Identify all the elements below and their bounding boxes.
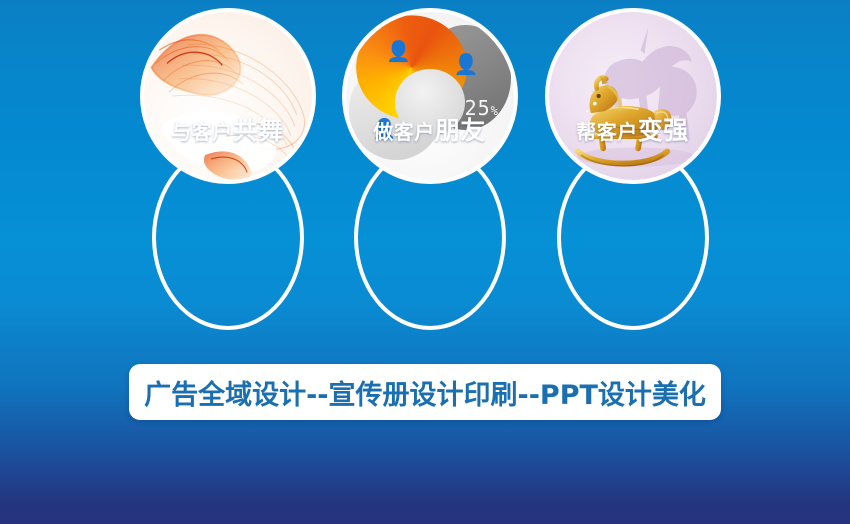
feature-item-dance-with-client[interactable]: 与客户共舞 [120,0,335,340]
orange-smoke-ribbons-icon [144,12,312,180]
person-presenter-icon: 👤 [386,41,411,61]
feature-label-light: 与客户 [171,120,233,144]
feature-label-bold: 朋友 [435,116,486,145]
feature-image-disc [140,8,316,184]
feature-image-disc: 👤 👤 👤 25% [342,8,518,184]
feature-label: 做客户朋友 [322,118,537,143]
golden-rocking-horse-icon [549,12,717,180]
feature-item-friend-of-client[interactable]: 👤 👤 👤 25% 做客户朋友 [322,0,537,340]
service-banner-text: 广告全域设计--宣传册设计印刷--PPT设计美化 [144,373,706,412]
service-banner[interactable]: 广告全域设计--宣传册设计印刷--PPT设计美化 [129,364,721,420]
feature-label: 帮客户变强 [525,118,740,143]
percent-sign: % [491,104,499,118]
feature-label-bold: 共舞 [233,116,284,145]
poster-canvas: 与客户共舞 👤 👤 👤 25% [0,0,850,524]
feature-label-bold: 变强 [638,116,689,145]
feature-group: 与客户共舞 👤 👤 👤 25% [0,0,850,340]
feature-label-light: 做客户 [373,120,435,144]
feature-label-light: 帮客户 [576,120,638,144]
feature-image-disc [545,8,721,184]
person-standing-icon: 👤 [454,54,479,74]
feature-label: 与客户共舞 [120,118,335,143]
feature-item-make-client-stronger[interactable]: 帮客户变强 [525,0,740,340]
infographic-donut-icon: 👤 👤 👤 25% [346,12,514,180]
